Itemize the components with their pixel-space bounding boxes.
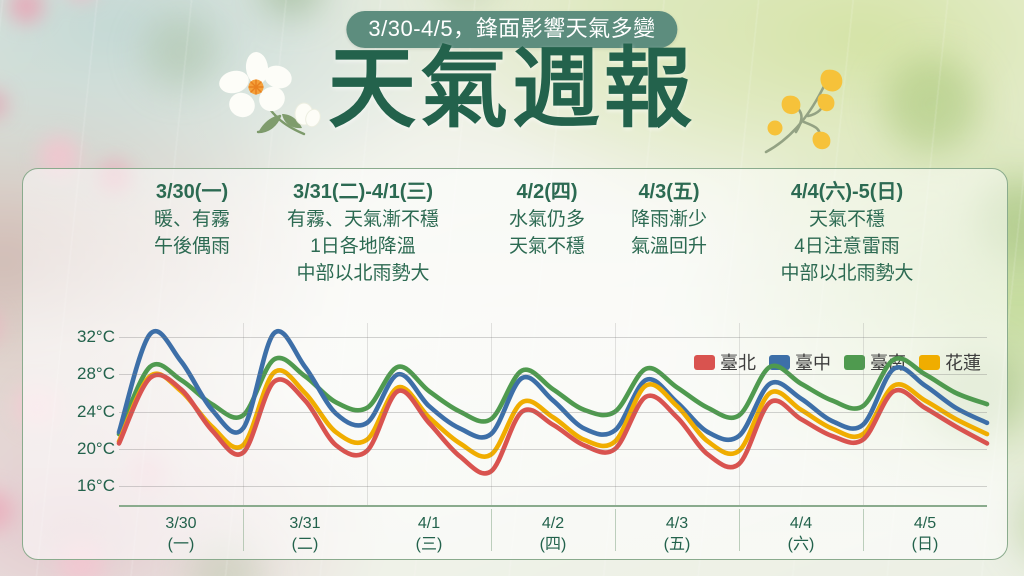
day-separator-2 [367,323,368,505]
forecast-panel: 3/30(一) 暖、有霧 午後偶雨 3/31(二)-4/1(三) 有霧、天氣漸不… [22,168,1008,560]
x-axis-separator-4 [615,509,616,551]
x-axis-tick-date-2: 3/31 [289,513,320,534]
gridline-16 [119,486,987,487]
y-axis-tick-20: 20°C [49,439,115,459]
gridline-32 [119,337,987,338]
x-axis-tick-weekday-7: (日) [912,534,939,555]
x-axis-separator-3 [491,509,492,551]
forecast-detail-4-1: 降雨漸少 [611,207,727,234]
forecast-detail-1-1: 暖、有霧 [127,207,257,234]
x-axis-separator-1 [243,509,244,551]
temperature-lines [119,323,987,505]
forecast-detail-4-2: 氣溫回升 [611,234,727,261]
gridline-20 [119,449,987,450]
x-axis-tick-date-7: 4/5 [912,513,939,534]
gridline-28 [119,374,987,375]
forecast-detail-2-3: 中部以北雨勢大 [251,261,475,288]
forecast-column-3: 4/2(四) 水氣仍多 天氣不穩 [487,177,607,261]
forecast-detail-1-2: 午後偶雨 [127,234,257,261]
x-axis-tick-weekday-1: (一) [165,534,196,555]
white-flower-icon [218,52,328,157]
x-axis-tick-date-6: 4/4 [788,513,815,534]
x-axis-separator-6 [863,509,864,551]
x-axis-tick-2: 3/31(二) [289,513,320,555]
yellow-bud-branch-icon [762,56,860,164]
x-axis-tick-date-4: 4/2 [540,513,567,534]
forecast-detail-5-3: 中部以北雨勢大 [735,261,959,288]
forecast-column-2: 3/31(二)-4/1(三) 有霧、天氣漸不穩 1日各地降溫 中部以北雨勢大 [251,177,475,288]
x-axis-tick-date-3: 4/1 [416,513,443,534]
x-axis-tick-4: 4/2(四) [540,513,567,555]
forecast-detail-3-1: 水氣仍多 [487,207,607,234]
day-separator-1 [243,323,244,505]
forecast-date-2: 3/31(二)-4/1(三) [251,177,475,207]
forecast-column-4: 4/3(五) 降雨漸少 氣溫回升 [611,177,727,261]
y-axis-tick-16: 16°C [49,476,115,496]
forecast-date-1: 3/30(一) [127,177,257,207]
forecast-detail-5-1: 天氣不穩 [735,207,959,234]
x-axis-line [119,505,987,507]
x-axis-tick-7: 4/5(日) [912,513,939,555]
x-axis-tick-weekday-6: (六) [788,534,815,555]
forecast-column-1: 3/30(一) 暖、有霧 午後偶雨 [127,177,257,261]
x-axis-tick-date-1: 3/30 [165,513,196,534]
forecast-detail-3-2: 天氣不穩 [487,234,607,261]
x-axis-tick-6: 4/4(六) [788,513,815,555]
day-separator-3 [491,323,492,505]
x-axis-tick-1: 3/30(一) [165,513,196,555]
y-axis-tick-32: 32°C [49,327,115,347]
chart-plot-area [119,323,987,505]
y-axis-tick-28: 28°C [49,364,115,384]
x-axis-tick-weekday-4: (四) [540,534,567,555]
forecast-date-3: 4/2(四) [487,177,607,207]
forecast-date-5: 4/4(六)-5(日) [735,177,959,207]
header: 3/30-4/5，鋒面影響天氣多變 天氣週報 [0,0,1024,170]
x-axis: 3/30(一)3/31(二)4/1(三)4/2(四)4/3(五)4/4(六)4/… [119,509,987,557]
day-separator-4 [615,323,616,505]
day-separator-6 [863,323,864,505]
x-axis-tick-weekday-2: (二) [289,534,320,555]
forecast-detail-2-2: 1日各地降溫 [251,234,475,261]
gridline-24 [119,412,987,413]
y-axis: 32°C28°C24°C20°C16°C [23,323,115,505]
y-axis-tick-24: 24°C [49,402,115,422]
x-axis-tick-3: 4/1(三) [416,513,443,555]
x-axis-tick-5: 4/3(五) [664,513,691,555]
forecast-detail-5-2: 4日注意雷雨 [735,234,959,261]
forecast-date-4: 4/3(五) [611,177,727,207]
x-axis-separator-5 [739,509,740,551]
temperature-chart: 32°C28°C24°C20°C16°C 3/30(一)3/31(二)4/1(三… [23,309,1008,559]
day-separator-5 [739,323,740,505]
x-axis-tick-weekday-3: (三) [416,534,443,555]
forecast-column-5: 4/4(六)-5(日) 天氣不穩 4日注意雷雨 中部以北雨勢大 [735,177,959,288]
x-axis-tick-weekday-5: (五) [664,534,691,555]
forecast-text-columns: 3/30(一) 暖、有霧 午後偶雨 3/31(二)-4/1(三) 有霧、天氣漸不… [23,177,1008,315]
forecast-detail-2-1: 有霧、天氣漸不穩 [251,207,475,234]
x-axis-tick-date-5: 4/3 [664,513,691,534]
page-title: 天氣週報 [328,45,696,133]
